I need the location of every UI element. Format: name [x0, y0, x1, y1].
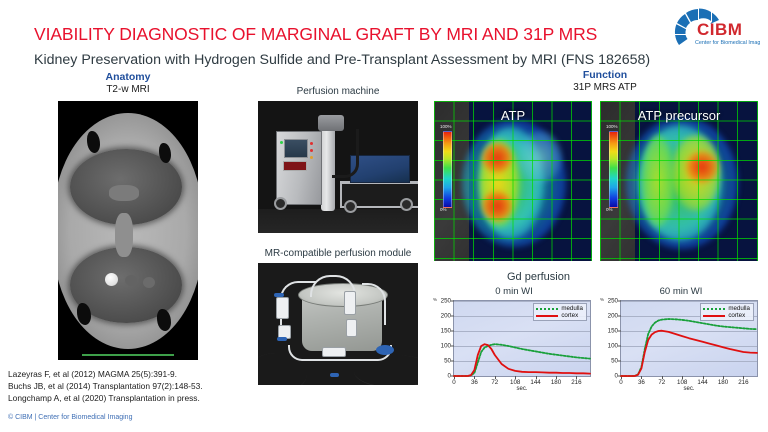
chart-y-axis-label: %: [433, 297, 437, 302]
chart-x-tick-label: 216: [738, 379, 748, 386]
chart-y-tick-label: 200: [441, 313, 451, 320]
machine-led-red-1: [310, 142, 313, 145]
chart-x-tick-mark: [474, 376, 475, 379]
legend-item-medulla: medulla: [703, 305, 750, 312]
chart-y-tick-label: 50: [611, 358, 618, 365]
machine-wheel-1: [274, 197, 287, 210]
legend-label-medulla: medulla: [728, 305, 750, 312]
mri-air-pocket-4: [157, 309, 171, 331]
chart-x-tick-label: 144: [697, 379, 707, 386]
mri-abdomen-cross-section: [58, 113, 198, 349]
chart-title: 60 min WI: [598, 286, 764, 297]
machine-display-screen: [284, 139, 308, 158]
svg-text:CIBM: CIBM: [697, 20, 742, 39]
chart-x-tick-mark: [723, 376, 724, 379]
mrs-scale-max-label: 100%: [440, 124, 452, 129]
chart-y-tick-label: 150: [608, 328, 618, 335]
module-tube-right: [362, 283, 386, 325]
perfusion-module-photo: [258, 263, 418, 385]
photo-floor: [258, 209, 418, 233]
mri-renal-hilum: [115, 213, 133, 257]
cibm-logo-icon: CIBM Center for Biomedical Imaging: [664, 4, 760, 52]
chart-x-tick-label: 180: [551, 379, 561, 386]
chart-x-tick-label: 0: [619, 379, 622, 386]
legend-key-medulla-icon: [703, 306, 725, 312]
mrs-color-scale-bar: [609, 131, 618, 208]
chart-x-tick-label: 108: [677, 379, 687, 386]
mrs-scale-min-label: 0%: [440, 207, 447, 212]
mrs-grid-overlay: [600, 101, 758, 261]
mri-vessel-upper: [109, 185, 139, 201]
t2w-mri-image: [58, 101, 198, 360]
mrs-atp-map: 100% 0% ATP: [434, 101, 592, 261]
chart-x-tick-label: 36: [638, 379, 645, 386]
chart-y-tick-label: 50: [444, 358, 451, 365]
chart-plot-area: medulla cortex 0501001502002500367210814…: [453, 300, 591, 377]
legend-label-medulla: medulla: [561, 305, 583, 312]
chart-y-tick-label: 100: [608, 343, 618, 350]
mri-air-pocket-2: [159, 143, 171, 163]
chart-x-tick-label: 36: [471, 379, 478, 386]
module-connector-5: [322, 347, 346, 357]
function-heading: Function: [505, 69, 705, 81]
mrs-scale-max-label: 100%: [606, 124, 618, 129]
machine-led-red-2: [310, 149, 313, 152]
module-connector-4: [346, 319, 357, 337]
mri-cyst-2: [143, 277, 155, 288]
page-subtitle: Kidney Preservation with Hydrogen Sulfid…: [34, 52, 650, 68]
mri-bright-nodule: [105, 273, 118, 286]
chart-x-tick-mark: [743, 376, 744, 379]
mrs-atp-precursor-map: 100% 0% ATP precursor: [600, 101, 758, 261]
module-blue-clip-2: [277, 337, 287, 341]
chart-x-tick-label: 180: [718, 379, 728, 386]
legend-item-cortex: cortex: [536, 312, 583, 319]
references-list: Lazeyras F, et al (2012) MAGMA 25(5):391…: [8, 368, 203, 405]
chart-0-min-wi: 0 min WI % medulla cortex 05010015020025…: [431, 286, 597, 394]
chart-x-axis-label: sec.: [620, 386, 758, 392]
chart-x-tick-label: 0: [452, 379, 455, 386]
module-connector-1: [276, 297, 289, 319]
chart-x-tick-label: 144: [530, 379, 540, 386]
legend-item-cortex: cortex: [703, 312, 750, 319]
reference-item: Lazeyras F, et al (2012) MAGMA 25(5):391…: [8, 368, 203, 380]
chart-plot-area: medulla cortex 0501001502002500367210814…: [620, 300, 758, 377]
mrs-panel-label-atp-precursor: ATP precursor: [638, 108, 721, 123]
reference-item: Buchs JB, et al (2014) Transplantation 9…: [8, 380, 203, 392]
svg-text:Center for Biomedical Imaging: Center for Biomedical Imaging: [695, 40, 760, 46]
chart-x-tick-mark: [556, 376, 557, 379]
anatomy-heading: Anatomy: [58, 71, 198, 83]
module-connector-3: [344, 291, 356, 315]
machine-led-green: [280, 141, 283, 144]
reference-item: Longchamp A, et al (2020) Transplantatio…: [8, 392, 203, 404]
chart-legend: medulla cortex: [700, 303, 754, 321]
chart-x-tick-mark: [703, 376, 704, 379]
chart-x-tick-mark: [536, 376, 537, 379]
perfusion-machine-caption: Perfusion machine: [258, 86, 418, 97]
footer-credit: © CIBM | Center for Biomedical Imaging: [8, 414, 132, 421]
chart-x-tick-label: 216: [571, 379, 581, 386]
gd-perfusion-title: Gd perfusion: [507, 271, 570, 283]
machine-wheel-2: [344, 200, 357, 213]
mri-air-pocket-1: [87, 131, 100, 153]
machine-hose: [332, 129, 359, 178]
legend-label-cortex: cortex: [728, 312, 745, 319]
cibm-logo: CIBM Center for Biomedical Imaging: [664, 4, 760, 52]
chart-x-tick-mark: [682, 376, 683, 379]
legend-key-medulla-icon: [536, 306, 558, 312]
chart-x-tick-mark: [662, 376, 663, 379]
chart-y-tick-label: 250: [441, 298, 451, 305]
module-blue-clip-3: [330, 373, 339, 377]
machine-wheel-3: [400, 198, 413, 211]
perfusion-machine-photo: [258, 101, 418, 233]
legend-item-medulla: medulla: [536, 305, 583, 312]
perfusion-module-caption: MR-compatible perfusion module: [238, 248, 438, 259]
module-cable-2: [354, 355, 418, 385]
anatomy-subheading: T2-w MRI: [58, 84, 198, 95]
page-title: VIABILITY DIAGNOSTIC OF MARGINAL GRAFT B…: [34, 24, 597, 45]
function-subheading: 31P MRS ATP: [505, 82, 705, 93]
chart-x-tick-mark: [515, 376, 516, 379]
chart-title: 0 min WI: [431, 286, 597, 297]
chart-x-axis-label: sec.: [453, 386, 591, 392]
machine-blue-container: [350, 155, 410, 183]
chart-x-tick-mark: [641, 376, 642, 379]
module-blue-clip-1: [274, 293, 284, 297]
mrs-scale-min-label: 0%: [606, 207, 613, 212]
chart-y-tick-label: 100: [441, 343, 451, 350]
chart-x-tick-label: 108: [510, 379, 520, 386]
legend-label-cortex: cortex: [561, 312, 578, 319]
mrs-panel-label-atp: ATP: [501, 108, 525, 123]
mri-scale-bar: [82, 354, 174, 356]
chart-legend: medulla cortex: [533, 303, 587, 321]
mri-cyst-1: [125, 275, 137, 286]
chart-y-tick-label: 150: [441, 328, 451, 335]
chart-x-tick-label: 72: [491, 379, 498, 386]
chart-x-tick-label: 72: [658, 379, 665, 386]
mrs-color-scale-bar: [443, 131, 452, 208]
chart-x-tick-mark: [576, 376, 577, 379]
machine-red-readout: [283, 161, 307, 171]
chart-y-tick-label: 250: [608, 298, 618, 305]
chart-y-axis-label: %: [600, 297, 604, 302]
chart-series-cortex: [621, 331, 757, 376]
legend-key-cortex-icon: [703, 313, 725, 319]
chart-y-tick-label: 200: [608, 313, 618, 320]
legend-key-cortex-icon: [536, 313, 558, 319]
machine-led-amber: [310, 156, 313, 159]
mrs-grid-overlay: [434, 101, 592, 261]
chart-x-tick-mark: [495, 376, 496, 379]
module-blue-valve: [376, 345, 394, 355]
chart-60-min-wi: 60 min WI % medulla cortex 0501001502002…: [598, 286, 764, 394]
